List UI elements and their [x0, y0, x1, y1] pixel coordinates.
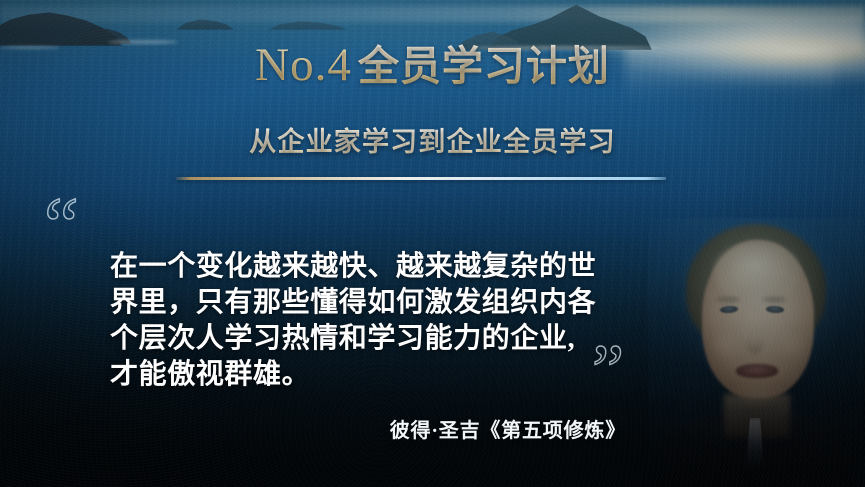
quote-open-mark-icon: “ — [44, 186, 79, 264]
portrait-peter-senge — [648, 218, 863, 487]
page-subtitle: 从企业家学习到企业全员学习 — [0, 120, 865, 159]
title-chinese: 全员学习计划 — [358, 43, 610, 89]
quote-body: 在一个变化越来越快、越来越复杂的世 界里，只有那些懂得如何激发组织内各 个层次人… — [110, 249, 630, 393]
title-divider — [176, 177, 666, 180]
quote-line: 个层次人学习热情和学习能力的企业, — [110, 321, 630, 357]
portrait-layers — [648, 218, 863, 487]
title-number: No.4 — [255, 39, 358, 91]
quote-line: 在一个变化越来越快、越来越复杂的世 — [110, 249, 630, 285]
presentation-slide: No.4全员学习计划 从企业家学习到企业全员学习 “ ” 在一个变化越来越快、越… — [0, 0, 865, 487]
quote-line: 才能傲视群雄。 — [110, 357, 630, 393]
quote-line: 界里，只有那些懂得如何激发组织内各 — [110, 285, 630, 321]
portrait-rim-glow — [648, 218, 863, 487]
quote-attribution: 彼得·圣吉《第五项修炼》 — [0, 414, 626, 443]
page-title: No.4全员学习计划 — [0, 40, 865, 91]
